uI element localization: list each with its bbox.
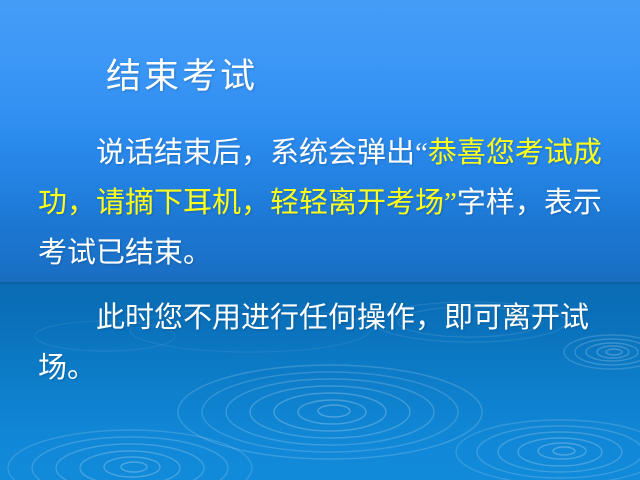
slide-title: 结束考试 [106, 54, 258, 100]
presentation-slide: 结束考试 说话结束后，系统会弹出“恭喜您考试成功，请摘下耳机，轻轻离开考场”字样… [0, 0, 640, 480]
paragraph-2-segment-1: 此时您不用进行任何操作，即可离开试场。 [38, 302, 589, 384]
paragraph-1: 说话结束后，系统会弹出“恭喜您考试成功，请摘下耳机，轻轻离开考场”字样，表示考试… [38, 128, 618, 278]
paragraph-2: 此时您不用进行任何操作，即可离开试场。 [38, 293, 618, 393]
slide-body: 说话结束后，系统会弹出“恭喜您考试成功，请摘下耳机，轻轻离开考场”字样，表示考试… [38, 128, 618, 393]
slide-content: 结束考试 说话结束后，系统会弹出“恭喜您考试成功，请摘下耳机，轻轻离开考场”字样… [0, 0, 640, 480]
paragraph-1-segment-1: 说话结束后，系统会弹出“ [96, 137, 428, 169]
